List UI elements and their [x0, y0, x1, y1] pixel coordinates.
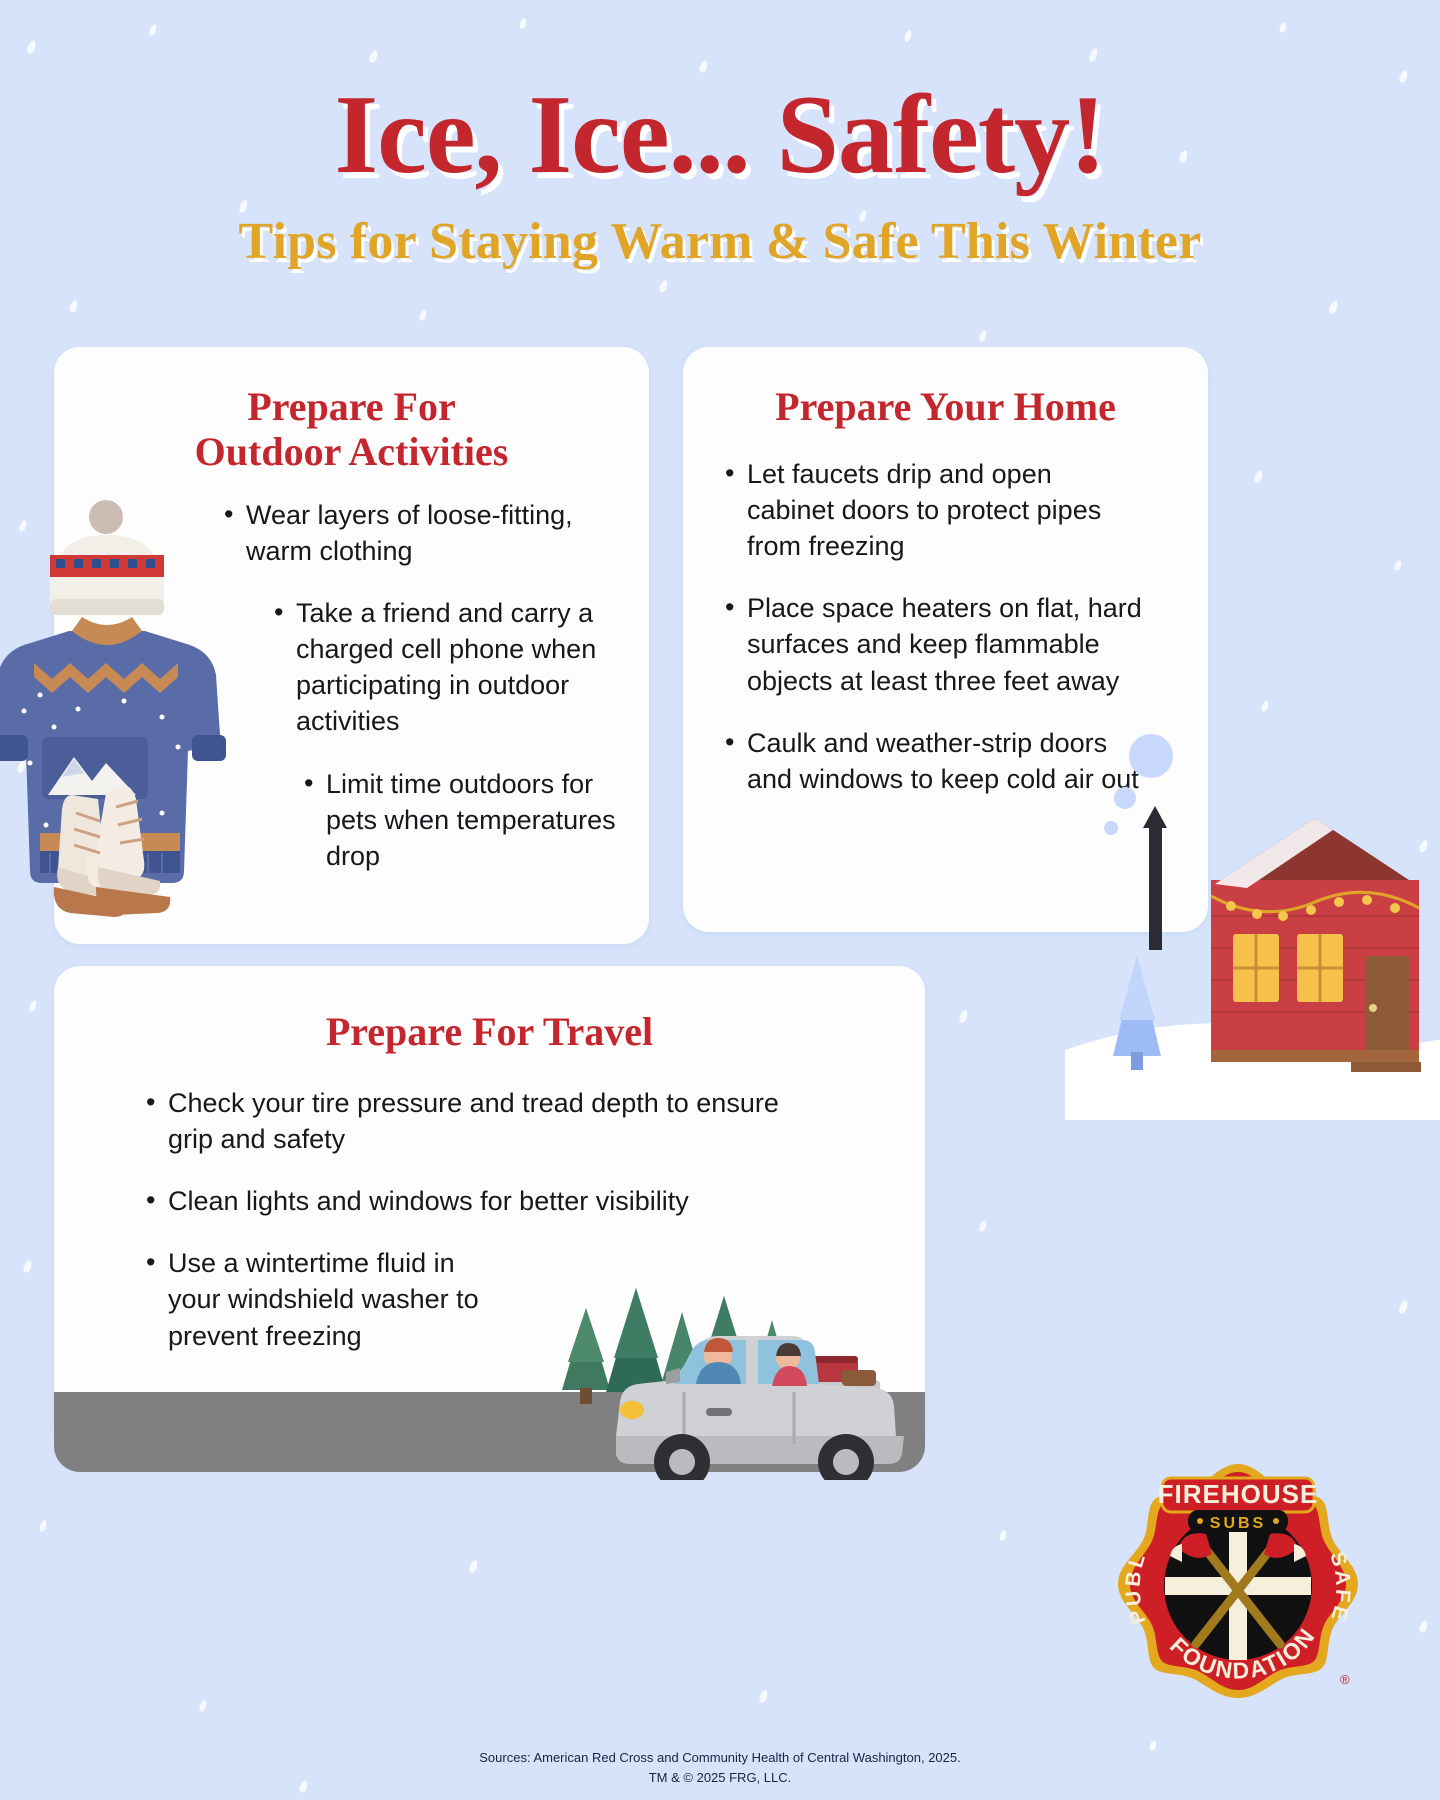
snowflake — [418, 309, 427, 321]
page-subtitle: Tips for Staying Warm & Safe This Winter — [0, 212, 1440, 271]
list-item: Take a friend and carry a charged cell p… — [274, 595, 624, 740]
card-title-travel: Prepare For Travel — [54, 966, 925, 1055]
card-title-outdoor-line2: Outdoor Activities — [54, 430, 649, 475]
footer-copyright: TM & © 2025 FRG, LLC. — [0, 1768, 1440, 1788]
logo-registered-mark: ® — [1340, 1672, 1350, 1687]
snowflake — [758, 1689, 769, 1704]
footer-sources: Sources: American Red Cross and Communit… — [0, 1748, 1440, 1768]
snowflake — [468, 1559, 479, 1574]
snowflake — [22, 1259, 33, 1274]
snowflake — [1398, 1299, 1409, 1315]
list-item: Check your tire pressure and tread depth… — [146, 1085, 786, 1157]
snowflake — [658, 279, 669, 294]
snowflake — [28, 999, 38, 1012]
logo-brand-top: FIREHOUSE — [1158, 1479, 1319, 1509]
snowflake — [198, 1699, 208, 1712]
card-title-outdoor: Prepare For Outdoor Activities — [54, 347, 649, 475]
snowflake — [1260, 699, 1270, 712]
card-title-home: Prepare Your Home — [683, 347, 1208, 430]
snowflake — [1418, 1619, 1429, 1634]
firehouse-subs-public-safety-foundation-logo: FIREHOUSE SUBS PUBLIC SAFETY FOUNDATION … — [1118, 1458, 1358, 1703]
footer: Sources: American Red Cross and Communit… — [0, 1748, 1440, 1788]
card-title-outdoor-line1: Prepare For — [54, 385, 649, 430]
snowflake — [998, 1529, 1007, 1541]
snowflake — [1393, 559, 1402, 571]
poster-header: Ice, Ice... Safety! Tips for Staying War… — [0, 0, 1440, 271]
snowflake — [38, 1519, 48, 1532]
page-title: Ice, Ice... Safety! — [0, 78, 1440, 192]
pickup-truck-illustration — [520, 1230, 940, 1480]
list-item: Use a wintertime fluid in your windshiel… — [146, 1245, 506, 1354]
snowflake — [978, 1219, 988, 1232]
snowflake — [978, 329, 988, 342]
list-item: Clean lights and windows for better visi… — [146, 1183, 786, 1219]
snowflake — [958, 1009, 969, 1024]
snowflake — [68, 299, 79, 314]
snowflake — [1253, 469, 1264, 484]
snowy-cabin-illustration — [1065, 720, 1440, 1120]
bullet-list-outdoor: Wear layers of loose-fitting, warm cloth… — [224, 497, 629, 875]
list-item: Let faucets drip and open cabinet doors … — [725, 456, 1145, 565]
snowflake — [1328, 299, 1339, 315]
list-item: Wear layers of loose-fitting, warm cloth… — [224, 497, 624, 569]
winter-sweater-illustration — [0, 495, 244, 925]
list-item: Limit time outdoors for pets when temper… — [304, 766, 624, 875]
list-item: Place space heaters on flat, hard surfac… — [725, 590, 1145, 699]
logo-brand-sub: SUBS — [1210, 1515, 1266, 1532]
